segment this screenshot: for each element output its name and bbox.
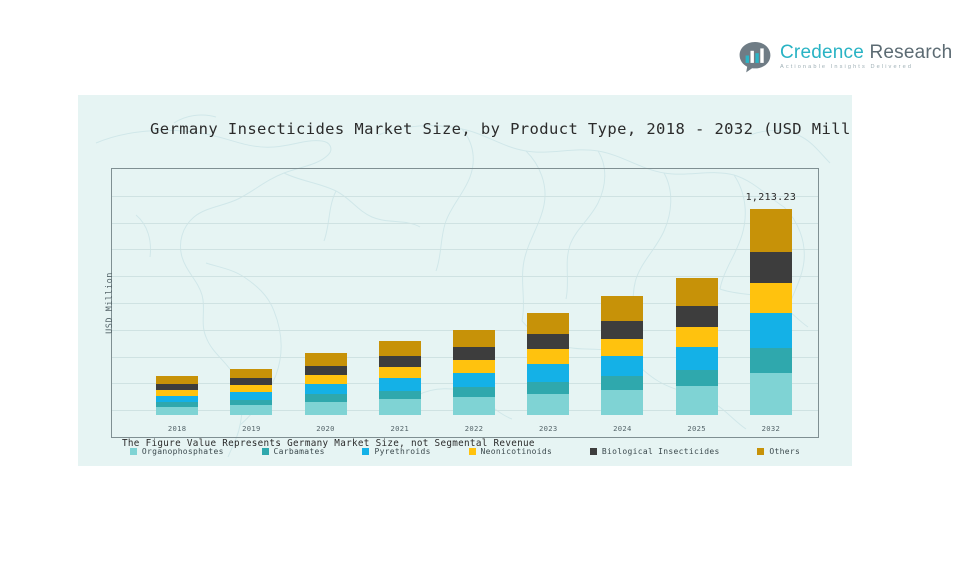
bar-segment[interactable] bbox=[305, 394, 347, 401]
brand-name-first: Credence bbox=[780, 42, 864, 63]
legend-swatch bbox=[262, 448, 269, 455]
bar-segment[interactable] bbox=[230, 385, 272, 392]
bar-segment[interactable] bbox=[527, 364, 569, 381]
legend-item[interactable]: Biological Insecticides bbox=[590, 447, 720, 456]
bar-segment[interactable] bbox=[750, 252, 792, 283]
bar-column[interactable]: 2021 bbox=[363, 177, 437, 415]
bar-segment[interactable] bbox=[453, 347, 495, 360]
bar-segment[interactable] bbox=[305, 366, 347, 375]
x-axis-tick: 2025 bbox=[687, 424, 706, 433]
stacked-bar[interactable] bbox=[676, 278, 718, 415]
plot-area: USD Million 2018201920202021202220232024… bbox=[111, 168, 819, 438]
stacked-bar[interactable] bbox=[453, 330, 495, 415]
legend-swatch bbox=[130, 448, 137, 455]
bar-segment[interactable] bbox=[750, 209, 792, 253]
bar-segment[interactable] bbox=[305, 384, 347, 395]
bar-segment[interactable] bbox=[676, 278, 718, 306]
bar-column[interactable]: 2024 bbox=[585, 177, 659, 415]
stacked-bar[interactable] bbox=[379, 341, 421, 415]
bar-column[interactable]: 1,213.232032 bbox=[734, 177, 808, 415]
brand-tagline: Actionable Insights Delivered bbox=[780, 65, 952, 71]
x-axis-tick: 2022 bbox=[465, 424, 484, 433]
x-axis-tick: 2032 bbox=[762, 424, 781, 433]
chart-footnote: The Figure Value Represents Germany Mark… bbox=[122, 438, 535, 449]
bar-segment[interactable] bbox=[527, 334, 569, 349]
bar-segment[interactable] bbox=[379, 367, 421, 378]
legend-swatch bbox=[362, 448, 369, 455]
bar-segment[interactable] bbox=[156, 376, 198, 384]
bar-segment[interactable] bbox=[230, 392, 272, 400]
chart-title: Germany Insecticides Market Size, by Pro… bbox=[150, 120, 852, 138]
bar-segment[interactable] bbox=[379, 399, 421, 415]
bar-segment[interactable] bbox=[750, 313, 792, 348]
bar-segment[interactable] bbox=[527, 394, 569, 415]
stacked-bar[interactable] bbox=[305, 353, 347, 415]
bar-column[interactable]: 2023 bbox=[511, 177, 585, 415]
bar-segment[interactable] bbox=[676, 386, 718, 415]
brand-name-second: Research bbox=[869, 42, 952, 63]
chart-screenshot: Credence Research Actionable Insights De… bbox=[0, 0, 967, 567]
legend-label: Others bbox=[769, 447, 800, 456]
bar-segment[interactable] bbox=[601, 390, 643, 415]
bar-segment[interactable] bbox=[527, 313, 569, 334]
bar-segment[interactable] bbox=[601, 296, 643, 320]
stacked-bar[interactable] bbox=[156, 376, 198, 415]
bar-segment[interactable] bbox=[305, 353, 347, 366]
legend-item[interactable]: Others bbox=[757, 447, 800, 456]
bar-segment[interactable] bbox=[453, 360, 495, 372]
bar-segment[interactable] bbox=[527, 382, 569, 394]
bar-segment[interactable] bbox=[305, 402, 347, 415]
bar-segment[interactable] bbox=[601, 376, 643, 390]
bar-segment[interactable] bbox=[379, 356, 421, 367]
bar-column[interactable]: 2020 bbox=[288, 177, 362, 415]
bar-segment[interactable] bbox=[750, 373, 792, 415]
bar-column[interactable]: 2022 bbox=[437, 177, 511, 415]
bar-segment[interactable] bbox=[453, 330, 495, 348]
stacked-bar[interactable] bbox=[230, 369, 272, 415]
x-axis-tick: 2021 bbox=[391, 424, 410, 433]
bar-segment[interactable] bbox=[230, 405, 272, 415]
bar-segment[interactable] bbox=[453, 397, 495, 415]
bar-column[interactable]: 2025 bbox=[660, 177, 734, 415]
bar-segment[interactable] bbox=[676, 327, 718, 347]
bar-segment[interactable] bbox=[601, 339, 643, 356]
x-axis-tick: 2019 bbox=[242, 424, 261, 433]
bar-column[interactable]: 2019 bbox=[214, 177, 288, 415]
bar-segment[interactable] bbox=[750, 283, 792, 313]
bar-segment[interactable] bbox=[750, 348, 792, 373]
bar-chart-speech-bubble-icon bbox=[738, 40, 772, 74]
bar-segment[interactable] bbox=[601, 356, 643, 376]
chart-panel: Germany Insecticides Market Size, by Pro… bbox=[78, 95, 852, 466]
bar-segment[interactable] bbox=[527, 349, 569, 364]
legend-label: Biological Insecticides bbox=[602, 447, 720, 456]
stacked-bar[interactable] bbox=[527, 313, 569, 415]
x-axis-tick: 2020 bbox=[316, 424, 335, 433]
bar-series-container: 201820192020202120222023202420251,213.23… bbox=[140, 177, 808, 415]
bar-column[interactable]: 2018 bbox=[140, 177, 214, 415]
legend-swatch bbox=[590, 448, 597, 455]
legend-swatch bbox=[757, 448, 764, 455]
bar-segment[interactable] bbox=[305, 375, 347, 384]
bar-segment[interactable] bbox=[230, 378, 272, 385]
bar-segment[interactable] bbox=[379, 391, 421, 400]
brand-name: Credence Research bbox=[780, 43, 952, 62]
x-axis-tick: 2023 bbox=[539, 424, 558, 433]
brand-logo: Credence Research Actionable Insights De… bbox=[738, 40, 952, 74]
legend-swatch bbox=[469, 448, 476, 455]
x-axis-tick: 2024 bbox=[613, 424, 632, 433]
bar-segment[interactable] bbox=[453, 373, 495, 387]
stacked-bar[interactable] bbox=[750, 209, 792, 415]
bar-segment[interactable] bbox=[601, 321, 643, 339]
x-axis-tick: 2018 bbox=[168, 424, 187, 433]
bar-segment[interactable] bbox=[230, 369, 272, 379]
bar-segment[interactable] bbox=[379, 378, 421, 391]
y-axis-label: USD Million bbox=[105, 272, 115, 334]
bar-value-label: 1,213.23 bbox=[746, 192, 797, 203]
bar-segment[interactable] bbox=[676, 370, 718, 386]
bar-segment[interactable] bbox=[379, 341, 421, 356]
bar-segment[interactable] bbox=[156, 407, 198, 415]
bar-segment[interactable] bbox=[453, 387, 495, 397]
bar-segment[interactable] bbox=[676, 306, 718, 327]
stacked-bar[interactable] bbox=[601, 296, 643, 415]
bar-segment[interactable] bbox=[676, 347, 718, 370]
